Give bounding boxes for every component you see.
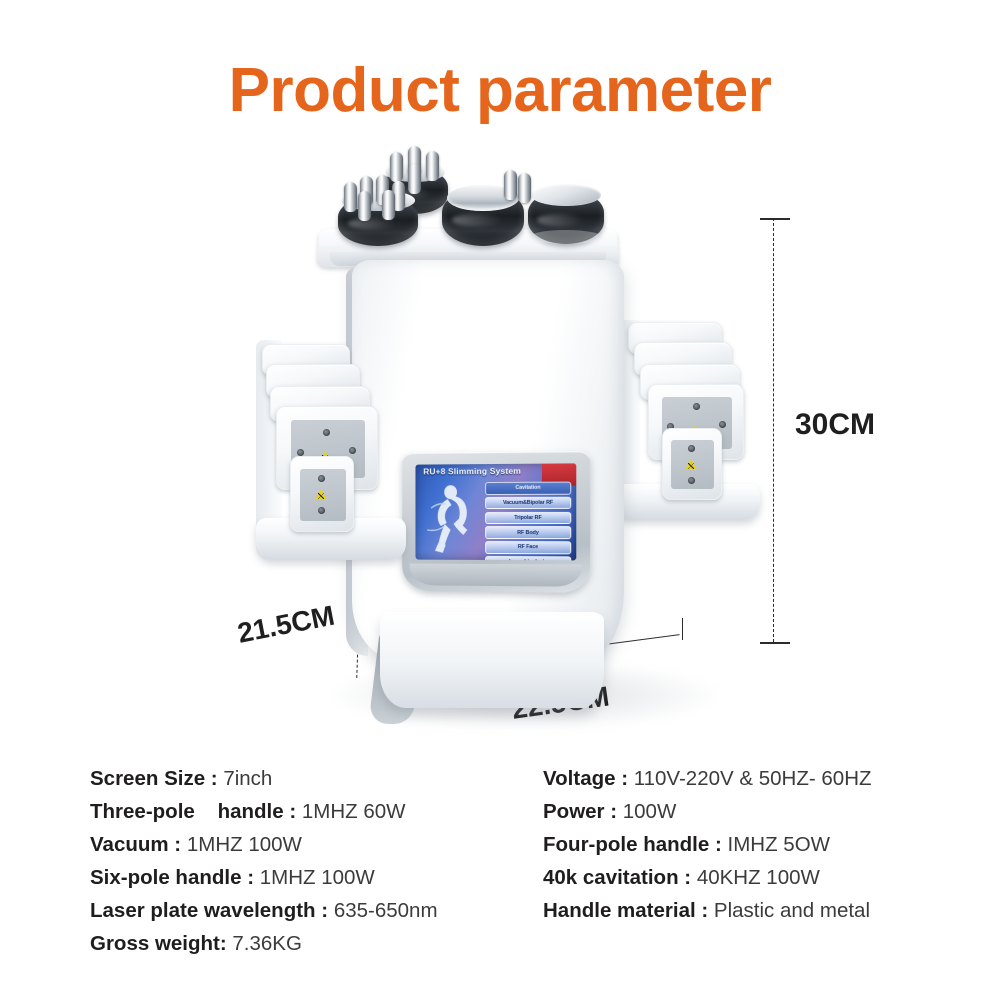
spec-row-three-pole-handle: Three-pole handle : 1MHZ 60W: [90, 795, 520, 828]
spec-row-gross-weight: Gross weight: 7.36KG: [90, 927, 520, 960]
spec-row-laser-plate-wavelength: Laser plate wavelength : 635-650nm: [90, 894, 520, 927]
electrode-pin: [382, 190, 395, 220]
specification-table: Screen Size : 7inch Three-pole handle : …: [0, 762, 1000, 962]
electrode-pin: [390, 152, 403, 182]
height-dimension-label: 30CM: [795, 408, 875, 442]
electrode-pin: [518, 173, 531, 203]
lcd-menu-item-rf-body[interactable]: RF Body: [485, 526, 571, 539]
cavitation-handle: [442, 188, 524, 246]
product-parameter-page: Product parameter: [0, 0, 1000, 1000]
laser-warning-icon: [685, 459, 697, 470]
depth-dimension-label: 21.5CM: [235, 600, 337, 650]
laser-diode: [349, 447, 356, 454]
height-dimension-cap-bottom: [760, 642, 790, 644]
left-laser-tray: [256, 340, 406, 560]
height-dimension-line: [773, 218, 774, 642]
spec-row-power: Power : 100W: [543, 795, 983, 828]
six-pole-handle: [338, 196, 418, 246]
spec-row-40k-cavitation: 40k cavitation : 40KHZ 100W: [543, 861, 983, 894]
electrode-pin: [426, 151, 439, 181]
laser-diode: [318, 507, 325, 514]
laser-diode: [688, 477, 695, 484]
laser-diode: [719, 421, 726, 428]
vacuum-handle: [528, 190, 604, 244]
lcd-menu-item-laser-lipolysis[interactable]: Laser Lipolysis: [485, 556, 571, 560]
spec-label: Voltage :: [543, 767, 634, 790]
spec-value: 1MHZ 60W: [302, 800, 406, 823]
handle-cap: [531, 184, 601, 207]
spec-value: 7inch: [223, 767, 272, 790]
screen-bezel-chin: [410, 564, 583, 587]
lcd-menu-item-cavitation[interactable]: Cavitation: [485, 482, 571, 495]
lcd-screen[interactable]: RU+8 Slimming System: [415, 463, 576, 560]
electrode-pin: [504, 170, 517, 200]
laser-diode: [318, 475, 325, 482]
spec-label: Vacuum :: [90, 833, 187, 856]
laser-warning-icon: [315, 489, 327, 500]
page-title: Product parameter: [0, 58, 1000, 123]
spec-row-screen-size: Screen Size : 7inch: [90, 762, 520, 795]
spec-label: Power :: [543, 800, 623, 823]
console-base: [380, 612, 604, 708]
spec-label: Screen Size :: [90, 767, 223, 790]
spec-label: Six-pole handle :: [90, 866, 260, 889]
spec-label: 40k cavitation :: [543, 866, 697, 889]
laser-diode: [323, 429, 330, 436]
screen-bezel: RU+8 Slimming System: [402, 451, 591, 593]
spec-row-handle-material: Handle material : Plastic and metal: [543, 894, 983, 927]
spec-value: Plastic and metal: [714, 899, 870, 922]
right-laser-tray: [614, 320, 760, 520]
spec-column-left: Screen Size : 7inch Three-pole handle : …: [90, 762, 520, 960]
lcd-menu-item-tripolar-rf[interactable]: Tripolar RF: [485, 511, 571, 524]
laser-pad-front: [662, 428, 722, 500]
spec-value: 1MHZ 100W: [187, 833, 302, 856]
electrode-pin: [408, 164, 421, 194]
lcd-fitness-figure: [421, 480, 476, 556]
spec-label: Four-pole handle :: [543, 833, 728, 856]
spec-row-six-pole-handle: Six-pole handle : 1MHZ 100W: [90, 861, 520, 894]
spec-value: IMHZ 5OW: [728, 833, 831, 856]
product-illustration: RU+8 Slimming System: [0, 140, 1000, 740]
laser-diode: [693, 403, 700, 410]
electrode-pin: [358, 191, 371, 221]
spec-row-voltage: Voltage : 110V-220V & 50HZ- 60HZ: [543, 762, 983, 795]
spec-row-four-pole-handle: Four-pole handle : IMHZ 5OW: [543, 828, 983, 861]
spec-label: Three-pole handle :: [90, 800, 302, 823]
spec-value: 110V-220V & 50HZ- 60HZ: [634, 767, 872, 790]
spec-label: Laser plate wavelength :: [90, 899, 334, 922]
laser-diode: [297, 449, 304, 456]
laser-diode: [688, 445, 695, 452]
lcd-header-text: RU+8 Slimming System: [423, 465, 574, 476]
spec-label: Handle material :: [543, 899, 714, 922]
spec-column-right: Voltage : 110V-220V & 50HZ- 60HZ Power :…: [543, 762, 983, 927]
handle-ring: [530, 230, 603, 244]
lcd-menu-item-vacuum-bipolar-rf[interactable]: Vacuum&Bipolar RF: [485, 497, 571, 510]
spec-value: 635-650nm: [334, 899, 438, 922]
laser-pad-front: [290, 456, 354, 532]
spec-label: Gross weight:: [90, 932, 232, 955]
lcd-menu-item-rf-face[interactable]: RF Face: [485, 541, 571, 554]
width-dimension-tick-right: [682, 618, 683, 640]
spec-value: 1MHZ 100W: [260, 866, 375, 889]
spec-value: 40KHZ 100W: [697, 866, 820, 889]
lcd-menu-list[interactable]: Cavitation Vacuum&Bipolar RF Tripolar RF…: [485, 482, 571, 561]
spec-value: 7.36KG: [232, 932, 302, 955]
height-dimension-cap-top: [760, 218, 790, 220]
electrode-pin: [344, 182, 357, 212]
spec-row-vacuum: Vacuum : 1MHZ 100W: [90, 828, 520, 861]
spec-value: 100W: [623, 800, 677, 823]
